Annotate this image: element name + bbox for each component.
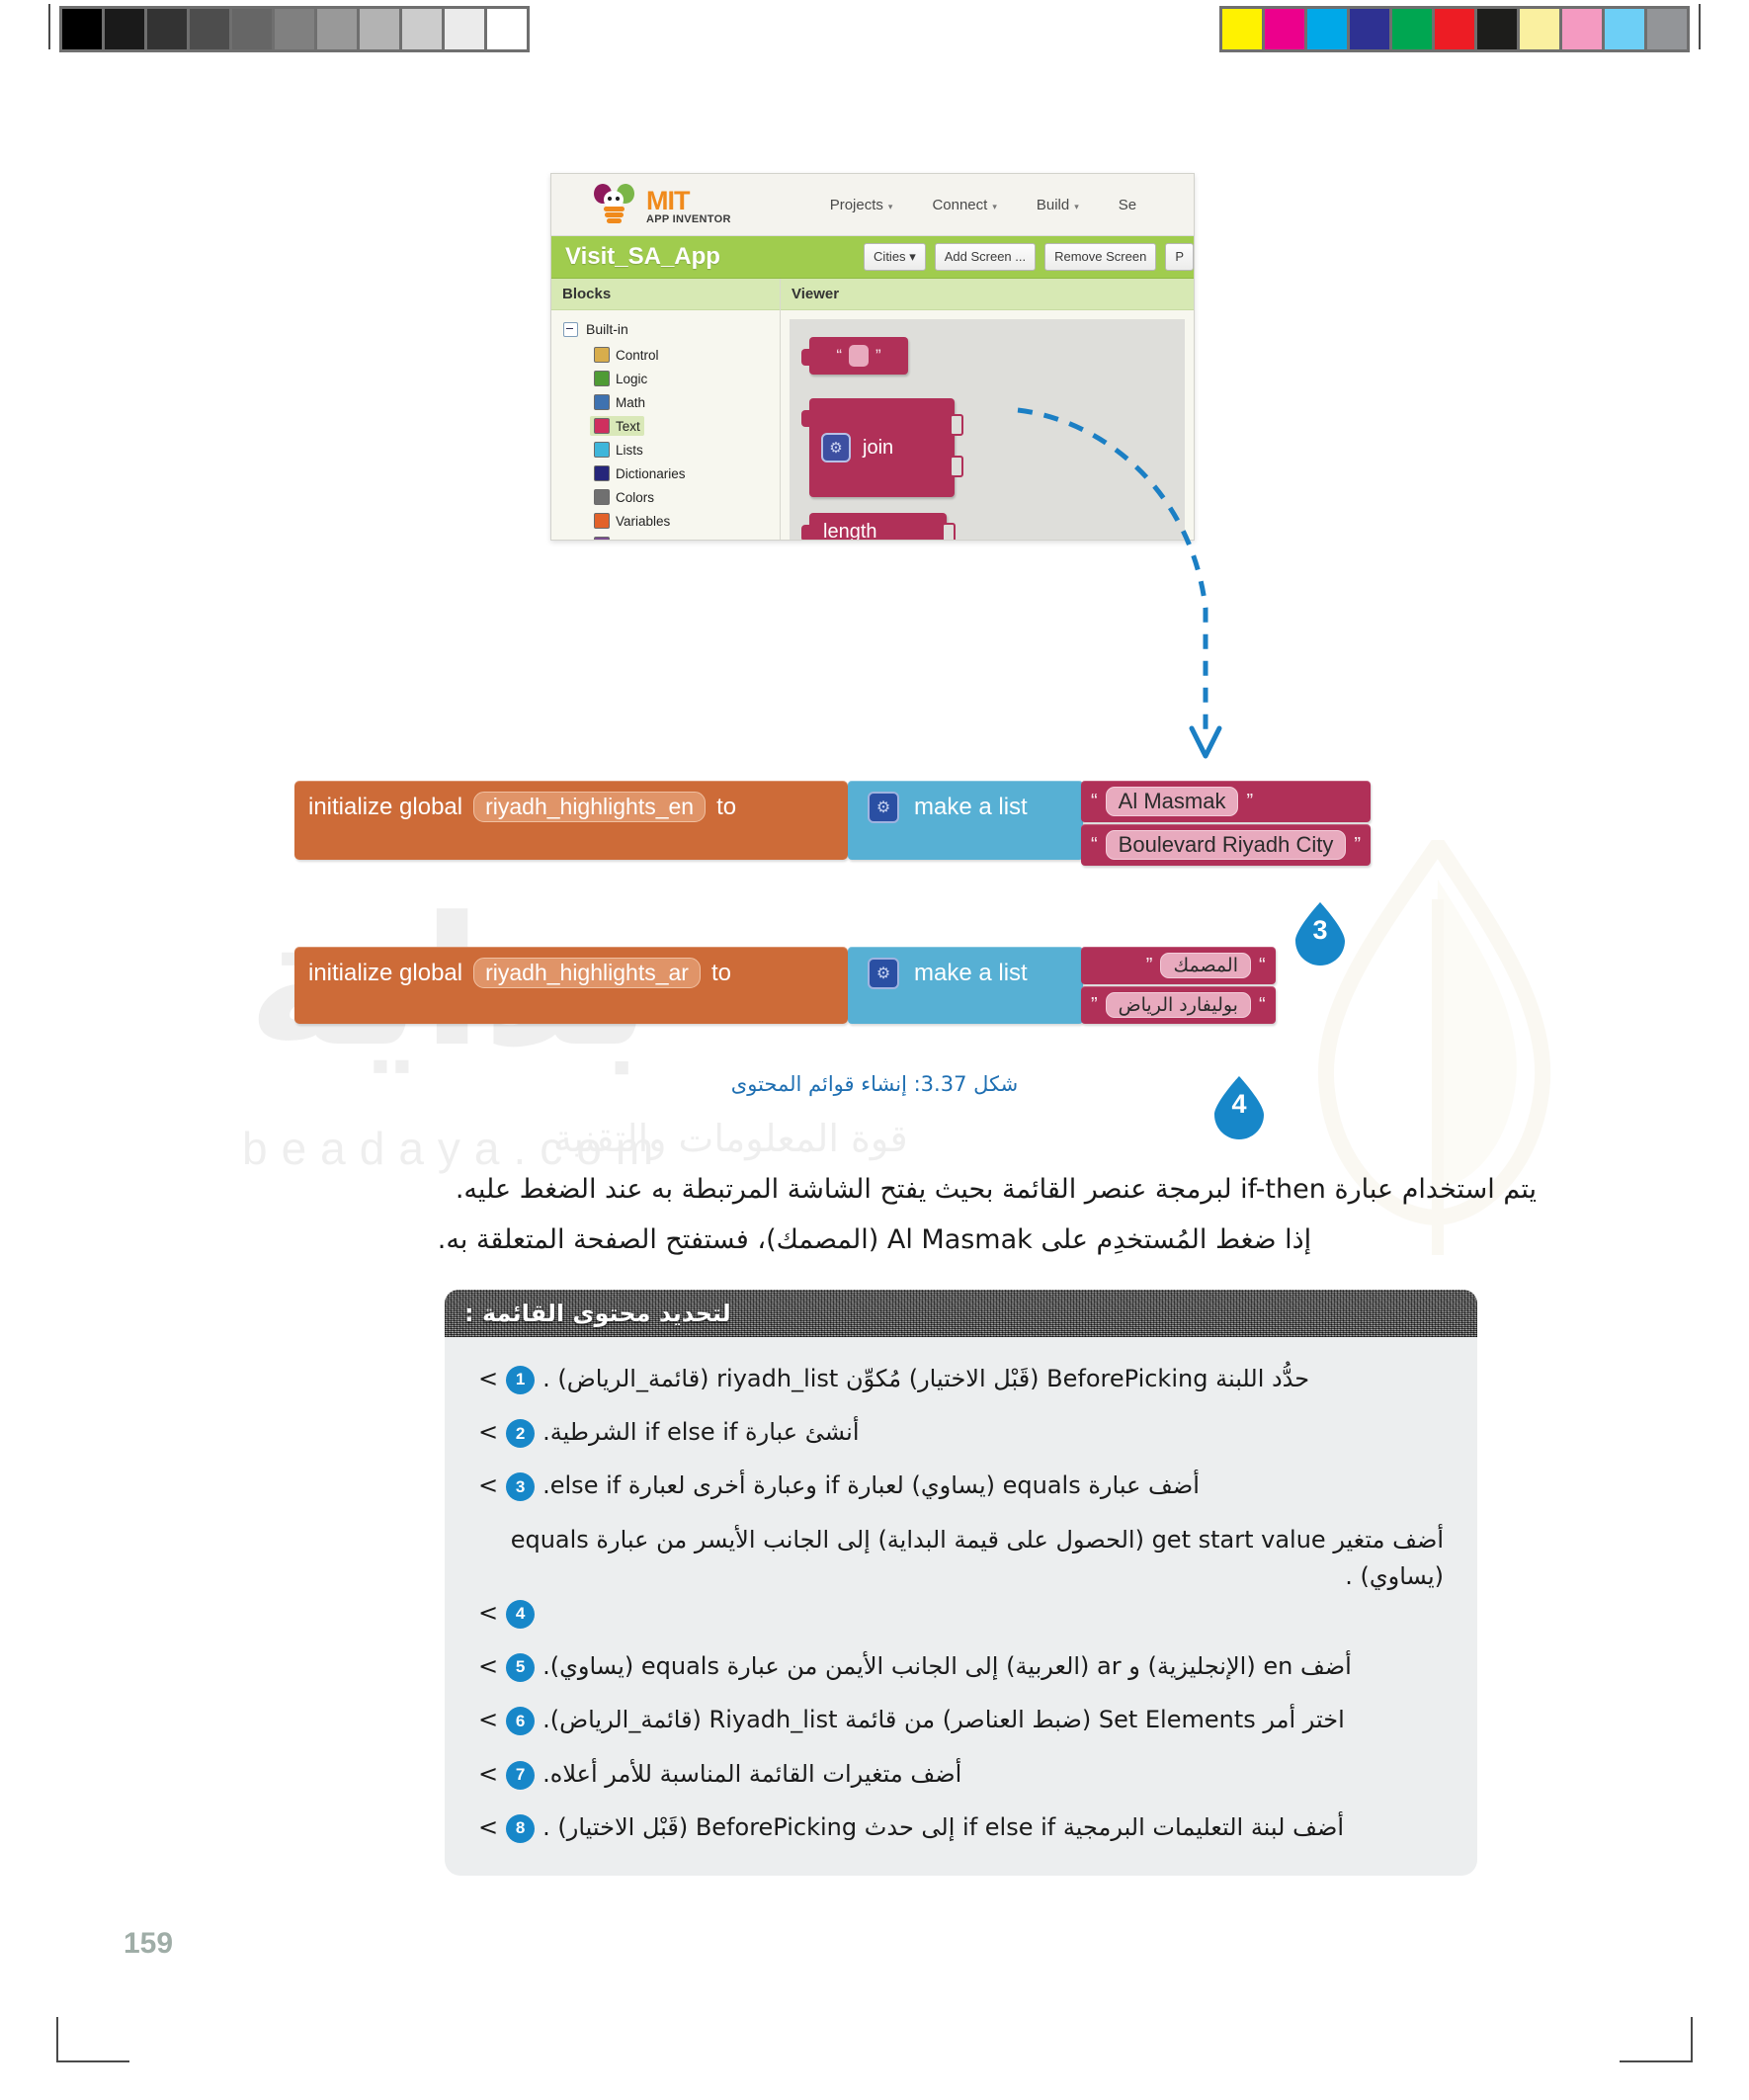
code-block-initialize-global-en[interactable]: initialize global riyadh_highlights_en t… bbox=[294, 781, 1371, 866]
add-screen-button[interactable]: Add Screen ... bbox=[935, 243, 1036, 271]
gray-swatch bbox=[402, 9, 445, 49]
color-swatch bbox=[1435, 9, 1477, 49]
color-swatch bbox=[1562, 9, 1605, 49]
text-string-block[interactable]: “ المصمك ” bbox=[1081, 947, 1276, 984]
tree-item-text[interactable]: Text bbox=[590, 416, 644, 436]
instruction-text: أضف en (الإنجليزية) و ar (العربية) إلى ا… bbox=[542, 1648, 1352, 1685]
gray-swatch bbox=[360, 9, 402, 49]
color-calibration-strip bbox=[1219, 6, 1690, 52]
instruction-list-item: حدُّد اللبنة BeforePicking (قَبْل الاختي… bbox=[478, 1361, 1444, 1397]
tree-item-control[interactable]: Control bbox=[590, 345, 663, 365]
step-badge: 3 bbox=[506, 1472, 535, 1501]
gray-swatch bbox=[487, 9, 527, 49]
initialize-global-block[interactable]: initialize global riyadh_highlights_ar t… bbox=[294, 947, 848, 1024]
color-swatch bbox=[1647, 9, 1687, 49]
make-a-list-row: ⚙ make a list bbox=[848, 781, 1083, 823]
mit-menu-item-connect[interactable]: Connect▾ bbox=[932, 197, 996, 213]
gray-swatch bbox=[105, 9, 147, 49]
make-a-list-block[interactable]: ⚙ make a list bbox=[848, 781, 1083, 860]
chevron-down-icon: ▾ bbox=[1074, 202, 1079, 211]
open-quote-icon: “ bbox=[836, 346, 842, 366]
to-label: to bbox=[716, 794, 736, 821]
viewer-panel-title: Viewer bbox=[781, 279, 1194, 310]
mit-project-bar: Visit_SA_App Cities ▾ Add Screen ... Rem… bbox=[551, 236, 1194, 279]
open-quote-icon: “ bbox=[1259, 994, 1266, 1017]
list-item-value[interactable]: بوليفارد الرياض bbox=[1106, 992, 1251, 1018]
gray-swatch bbox=[275, 9, 317, 49]
gear-icon[interactable]: ⚙ bbox=[821, 433, 851, 462]
list-item-value[interactable]: Al Masmak bbox=[1106, 787, 1239, 816]
instruction-list-item: أضف متغيرات القائمة المناسبة للأمر أعلاه… bbox=[478, 1756, 1444, 1793]
mit-menu-bar: Projects▾ Connect▾ Build▾ Se bbox=[830, 197, 1136, 213]
crop-mark-bottom-right-v bbox=[1691, 2017, 1693, 2062]
instruction-bullet: > bbox=[478, 1702, 498, 1738]
screen-select-button[interactable]: Cities ▾ bbox=[864, 243, 926, 271]
mit-logo-subtitle: APP INVENTOR bbox=[646, 214, 731, 225]
mit-menu-item-settings[interactable]: Se bbox=[1119, 197, 1136, 213]
body-paragraph-1: يتم استخدام عبارة if-then لبرمجة عنصر ال… bbox=[212, 1166, 1537, 1213]
list-item-value[interactable]: المصمك bbox=[1160, 953, 1251, 978]
step-badge: 4 bbox=[506, 1600, 535, 1629]
make-a-list-block[interactable]: ⚙ make a list bbox=[848, 947, 1083, 1024]
mit-menu-item-build[interactable]: Build▾ bbox=[1037, 197, 1079, 213]
category-color-chip bbox=[594, 489, 610, 505]
puzzle-notch-icon bbox=[801, 349, 810, 366]
open-quote-icon: “ bbox=[1091, 791, 1098, 813]
instruction-text: اختر أمر Set Elements (ضبط العناصر) من ق… bbox=[542, 1702, 1345, 1738]
socket-icon bbox=[950, 414, 963, 436]
instruction-text: أضف متغير get start value (الحصول على قي… bbox=[478, 1522, 1444, 1595]
socket-icon bbox=[942, 523, 956, 541]
tree-item-variables[interactable]: Variables bbox=[590, 511, 674, 531]
page-number: 159 bbox=[124, 1927, 173, 1961]
close-quote-icon: ” bbox=[1146, 955, 1153, 977]
tree-item-logic[interactable]: Logic bbox=[590, 369, 651, 388]
tree-item-label: Logic bbox=[616, 372, 647, 386]
blocks-tree: Built-in Control Logic Math Text Lists D… bbox=[551, 310, 780, 541]
code-block-initialize-global-ar[interactable]: initialize global riyadh_highlights_ar t… bbox=[294, 947, 1276, 1024]
tree-item-label: Control bbox=[616, 348, 659, 363]
instruction-bullet: > bbox=[478, 1595, 498, 1632]
tree-item-label: Procedures bbox=[616, 538, 684, 542]
close-quote-icon: ” bbox=[875, 346, 881, 366]
chevron-down-icon: ▾ bbox=[909, 249, 916, 264]
gray-swatch bbox=[62, 9, 105, 49]
step-pin-3: 3 bbox=[1291, 901, 1349, 966]
instruction-bullet: > bbox=[478, 1648, 498, 1685]
step-pin-number: 3 bbox=[1291, 915, 1349, 946]
list-item-value[interactable]: Boulevard Riyadh City bbox=[1106, 830, 1347, 860]
instruction-list-item: أضف متغير get start value (الحصول على قي… bbox=[478, 1522, 1444, 1633]
open-quote-icon: “ bbox=[1091, 834, 1098, 857]
color-swatch bbox=[1222, 9, 1265, 49]
text-string-block[interactable]: “ Al Masmak ” bbox=[1081, 781, 1371, 822]
grayscale-calibration-strip bbox=[59, 6, 530, 52]
make-a-list-label: make a list bbox=[914, 960, 1028, 987]
tree-item-colors[interactable]: Colors bbox=[590, 487, 658, 507]
instruction-text: أضف لبنة التعليمات البرمجية if else if إ… bbox=[542, 1809, 1344, 1846]
tree-node-label: Built-in bbox=[586, 321, 628, 337]
make-a-list-label: make a list bbox=[914, 794, 1028, 821]
category-color-chip bbox=[594, 537, 610, 541]
crop-mark-bottom-right-h bbox=[1620, 2060, 1693, 2062]
tree-item-label: Variables bbox=[616, 514, 670, 529]
flyout-block-text-string[interactable]: “ ” bbox=[809, 337, 908, 375]
instruction-text: أضف متغيرات القائمة المناسبة للأمر أعلاه… bbox=[542, 1756, 961, 1793]
tree-item-label: Colors bbox=[616, 490, 654, 505]
text-string-block[interactable]: “ Boulevard Riyadh City ” bbox=[1081, 824, 1371, 866]
variable-name-field[interactable]: riyadh_highlights_en bbox=[473, 792, 706, 822]
instruction-bullet: > bbox=[478, 1361, 498, 1397]
category-color-chip bbox=[594, 442, 610, 458]
gear-icon[interactable]: ⚙ bbox=[868, 958, 899, 989]
color-swatch bbox=[1477, 9, 1520, 49]
gray-swatch bbox=[147, 9, 190, 49]
color-swatch bbox=[1605, 9, 1647, 49]
tree-item-procedures[interactable]: Procedures bbox=[590, 535, 688, 541]
instruction-list-item: اختر أمر Set Elements (ضبط العناصر) من ق… bbox=[478, 1702, 1444, 1738]
variable-name-field[interactable]: riyadh_highlights_ar bbox=[473, 958, 701, 988]
category-color-chip bbox=[594, 371, 610, 386]
instruction-bullet: > bbox=[478, 1809, 498, 1846]
close-quote-icon: ” bbox=[1091, 994, 1098, 1017]
gray-swatch bbox=[445, 9, 487, 49]
instruction-list-item: أنشئ عبارة if else if الشرطية. 2 > bbox=[478, 1414, 1444, 1451]
category-color-chip bbox=[594, 465, 610, 481]
tree-item-math[interactable]: Math bbox=[590, 392, 649, 412]
instruction-list-item: أضف لبنة التعليمات البرمجية if else if إ… bbox=[478, 1809, 1444, 1846]
instruction-text: أنشئ عبارة if else if الشرطية. bbox=[542, 1414, 859, 1451]
blocks-panel-title: Blocks bbox=[551, 279, 780, 310]
flyout-block-join[interactable]: ⚙ join bbox=[809, 398, 955, 497]
step-badge: 8 bbox=[506, 1814, 535, 1843]
mit-menu-item-projects[interactable]: Projects▾ bbox=[830, 197, 893, 213]
crop-mark-bottom-left-v bbox=[56, 2017, 58, 2062]
mit-logo-title: MIT bbox=[646, 188, 731, 214]
instruction-text: حدُّد اللبنة BeforePicking (قَبْل الاختي… bbox=[542, 1361, 1309, 1397]
tree-node-built-in[interactable]: Built-in bbox=[563, 321, 780, 337]
crop-mark-bottom-left-h bbox=[56, 2060, 129, 2062]
category-color-chip bbox=[594, 418, 610, 434]
mit-menu-label: Connect bbox=[932, 197, 987, 213]
step-pin-number: 4 bbox=[1210, 1089, 1268, 1120]
blocks-panel: Blocks Built-in Control Logic Math Text … bbox=[551, 279, 781, 541]
watermark-tagline: قوة المعلومات والتقنية bbox=[553, 1117, 908, 1160]
step-badge: 5 bbox=[506, 1653, 535, 1682]
instruction-card: لتحديد محتوى القائمة : حدُّد اللبنة Befo… bbox=[445, 1290, 1477, 1876]
tree-item-label: Dictionaries bbox=[616, 466, 686, 481]
instruction-text: أضف عبارة equals (يساوي) لعبارة if وعبار… bbox=[542, 1468, 1200, 1504]
screen-toolbar: Cities ▾ Add Screen ... Remove Screen P bbox=[864, 243, 1194, 271]
gear-icon[interactable]: ⚙ bbox=[868, 792, 899, 823]
color-swatch bbox=[1350, 9, 1392, 49]
crop-mark-top-right bbox=[1699, 4, 1701, 49]
publish-button[interactable]: P bbox=[1165, 243, 1194, 271]
step-badge: 2 bbox=[506, 1419, 535, 1448]
text-input-slot[interactable] bbox=[849, 345, 869, 367]
body-text-block: يتم استخدام عبارة if-then لبرمجة عنصر ال… bbox=[212, 1166, 1537, 1268]
color-swatch bbox=[1520, 9, 1562, 49]
to-label: to bbox=[711, 960, 731, 987]
gray-swatch bbox=[190, 9, 232, 49]
instruction-list-item: أضف عبارة equals (يساوي) لعبارة if وعبار… bbox=[478, 1468, 1444, 1504]
tree-item-dictionaries[interactable]: Dictionaries bbox=[590, 463, 690, 483]
puzzle-notch-icon bbox=[801, 525, 810, 541]
collapse-icon[interactable] bbox=[563, 322, 578, 337]
mit-menu-label: Build bbox=[1037, 197, 1069, 213]
text-string-block[interactable]: “ بوليفارد الرياض ” bbox=[1081, 986, 1276, 1024]
project-name-label: Visit_SA_App bbox=[565, 243, 720, 271]
bee-logo-icon bbox=[589, 184, 640, 225]
instruction-list-item: أضف en (الإنجليزية) و ar (العربية) إلى ا… bbox=[478, 1648, 1444, 1685]
make-a-list-row: ⚙ make a list bbox=[848, 947, 1083, 989]
mit-top-toolbar: MIT APP INVENTOR Projects▾ Connect▾ Buil… bbox=[551, 174, 1194, 236]
instruction-card-body: حدُّد اللبنة BeforePicking (قَبْل الاختي… bbox=[445, 1337, 1477, 1876]
list-items-column: “ Al Masmak ” “ Boulevard Riyadh City ” bbox=[1083, 781, 1371, 866]
flyout-block-label: length bbox=[823, 521, 877, 542]
gray-swatch bbox=[232, 9, 275, 49]
tree-item-label: Lists bbox=[616, 443, 643, 458]
category-color-chip bbox=[594, 347, 610, 363]
category-color-chip bbox=[594, 513, 610, 529]
tree-item-lists[interactable]: Lists bbox=[590, 440, 647, 460]
mit-app-inventor-logo: MIT APP INVENTOR bbox=[589, 184, 731, 225]
chevron-down-icon: ▾ bbox=[992, 202, 997, 211]
instruction-bullet: > bbox=[478, 1756, 498, 1793]
screen-select-label: Cities bbox=[874, 249, 906, 264]
open-quote-icon: “ bbox=[1259, 955, 1266, 977]
step-badge: 1 bbox=[506, 1366, 535, 1394]
tree-item-label: Math bbox=[616, 395, 645, 410]
flyout-block-label: join bbox=[863, 437, 893, 460]
step-pin-4: 4 bbox=[1210, 1075, 1268, 1140]
instruction-bullet: > bbox=[478, 1468, 498, 1504]
category-color-chip bbox=[594, 394, 610, 410]
crop-mark-top-left bbox=[48, 4, 50, 49]
remove-screen-button[interactable]: Remove Screen bbox=[1044, 243, 1156, 271]
instruction-bullet: > bbox=[478, 1414, 498, 1451]
flyout-block-length[interactable]: length bbox=[809, 513, 947, 541]
initialize-global-row: initialize global riyadh_highlights_en t… bbox=[294, 781, 848, 822]
initialize-global-label: initialize global bbox=[308, 960, 462, 987]
initialize-global-row: initialize global riyadh_highlights_ar t… bbox=[294, 947, 848, 988]
close-quote-icon: ” bbox=[1354, 834, 1361, 857]
instruction-card-title: لتحديد محتوى القائمة : bbox=[445, 1290, 1477, 1337]
initialize-global-label: initialize global bbox=[308, 794, 462, 821]
close-quote-icon: ” bbox=[1246, 791, 1253, 813]
step-badge: 7 bbox=[506, 1761, 535, 1790]
step-badge: 6 bbox=[506, 1707, 535, 1735]
mit-menu-label: Se bbox=[1119, 197, 1136, 213]
list-items-column: “ المصمك ” “ بوليفارد الرياض ” bbox=[1083, 947, 1276, 1024]
mit-menu-label: Projects bbox=[830, 197, 883, 213]
body-paragraph-2: إذا ضغط المُستخدِم على Al Masmak (المصمك… bbox=[212, 1217, 1537, 1263]
socket-icon bbox=[950, 456, 963, 477]
dashed-connector-arrow bbox=[1008, 351, 1324, 776]
initialize-global-block[interactable]: initialize global riyadh_highlights_en t… bbox=[294, 781, 848, 860]
color-swatch bbox=[1307, 9, 1350, 49]
figure-caption: شكل 3.37: إنشاء قوائم المحتوى bbox=[0, 1072, 1749, 1096]
color-swatch bbox=[1265, 9, 1307, 49]
color-swatch bbox=[1392, 9, 1435, 49]
tree-item-label: Text bbox=[616, 419, 640, 434]
puzzle-notch-icon bbox=[801, 410, 810, 427]
gray-swatch bbox=[317, 9, 360, 49]
chevron-down-icon: ▾ bbox=[888, 202, 893, 211]
